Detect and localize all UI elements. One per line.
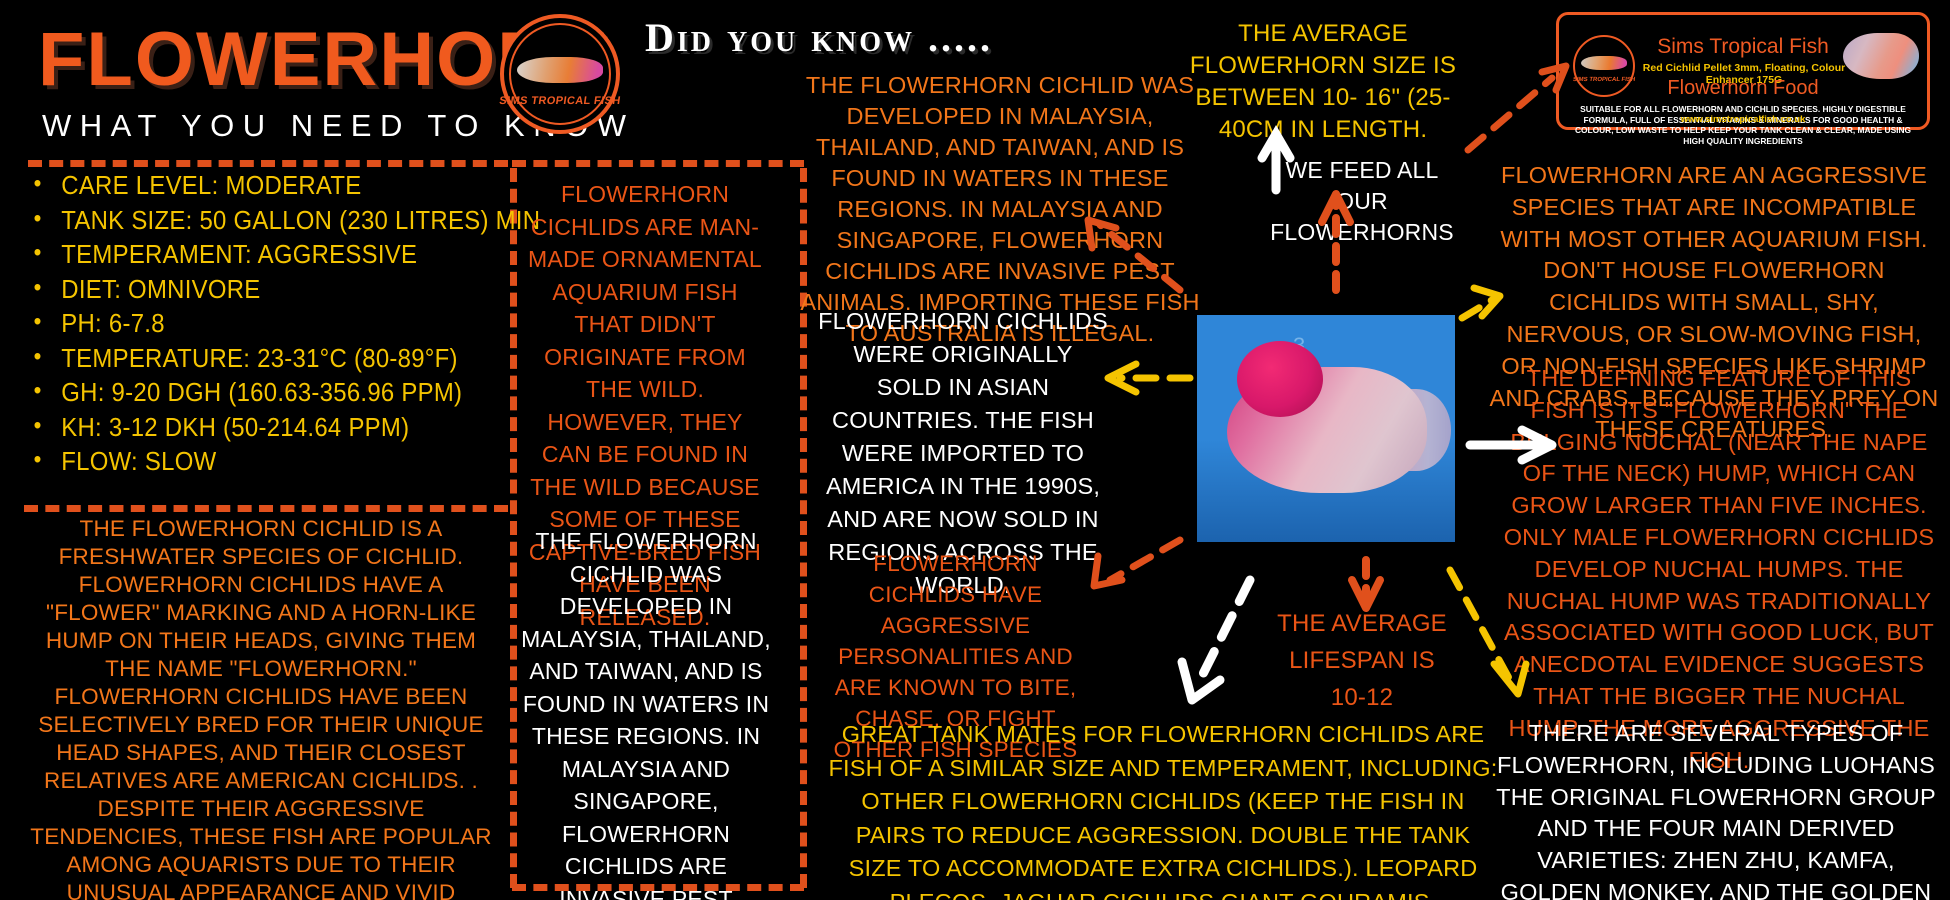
arrow-up-right-orange [1468, 78, 1552, 150]
nuchal-hump-paragraph: THE DEFINING FEATURE OF THIS FISH IS ITS… [1498, 363, 1940, 776]
flowerhorn-fish-icon [1581, 56, 1627, 70]
infographic-canvas: FLOWERHORN WHAT YOU NEED TO KNOW SIMS TR… [0, 0, 1950, 900]
lifespan-note: THE AVERAGE LIFESPAN IS 10-12 [1272, 605, 1452, 716]
arrow-down-left-white [1200, 580, 1250, 680]
ad-website-url[interactable]: www.simstropicalfish.co.uk [1559, 114, 1927, 125]
spec-item-care-level: CARE LEVEL: MODERATE [30, 168, 472, 203]
we-feed-note: WE FEED ALL OUR FLOWERHORNS [1262, 155, 1462, 248]
spec-item-flow: FLOW: SLOW [30, 444, 472, 479]
divider-mid-left [24, 505, 508, 512]
flowerhorn-fish-icon [517, 57, 603, 83]
spec-item-ph: PH: 6-7.8 [30, 306, 472, 341]
product-ad-box[interactable]: SIMS TROPICAL FISH Sims Tropical Fish Re… [1556, 12, 1930, 130]
ad-fish-photo [1843, 33, 1919, 79]
ad-logo-label: SIMS TROPICAL FISH [1572, 77, 1635, 83]
divider-top-left [28, 160, 508, 167]
ad-description: SUITABLE FOR ALL FLOWERHORN AND CICHLID … [1567, 104, 1919, 146]
did-you-know-heading: Did you know ..... [645, 14, 993, 61]
arrow-head-down-left-white [1182, 662, 1220, 700]
spec-item-kh: KH: 3-12 DKH (50-214.64 PPM) [30, 410, 472, 445]
flowerhorn-types-paragraph: THERE ARE SEVERAL TYPES OF FLOWERHORN, I… [1490, 718, 1942, 900]
flowerhorn-photo: 3 [1197, 315, 1455, 542]
tankmates-paragraph: GREAT TANK MATES FOR FLOWERHORN CICHLIDS… [828, 718, 1498, 900]
fish-nuchal-hump-shape [1237, 341, 1323, 417]
spec-item-tank-size: TANK SIZE: 50 GALLON (230 LITRES) MIN [30, 203, 472, 238]
spec-item-temperature: TEMPERATURE: 23-31°C (80-89°F) [30, 341, 472, 376]
care-specs-list: CARE LEVEL: MODERATE TANK SIZE: 50 GALLO… [30, 168, 510, 479]
ad-logo-badge: SIMS TROPICAL FISH [1573, 35, 1635, 97]
average-size-note: THE AVERAGE FLOWERHORN SIZE IS BETWEEN 1… [1168, 18, 1478, 146]
spec-item-temperament: TEMPERAMENT: AGGRESSIVE [30, 237, 472, 272]
ad-product-name: Flowerhorn Food [1643, 77, 1843, 100]
spec-item-diet: DIET: OMNIVORE [30, 272, 472, 307]
development-paragraph: THE FLOWERHORN CICHLID WAS DEVELOPED IN … [515, 525, 777, 900]
brand-logo-label: SIMS TROPICAL FISH [499, 95, 622, 107]
spec-item-gh: GH: 9-20 DGH (160.63-356.96 PPM) [30, 375, 472, 410]
brand-logo-badge: SIMS TROPICAL FISH [500, 14, 620, 134]
arrow-head-down-mid-orange [1352, 580, 1380, 608]
intro-paragraph: THE FLOWERHORN CICHLID IS A FRESHWATER S… [26, 515, 496, 900]
ad-brand-name: Sims Tropical Fish [1643, 35, 1843, 59]
arrow-down-left-orange [1110, 540, 1180, 580]
arrow-head-left-yellow [1108, 364, 1136, 392]
divider-top-middle [512, 160, 804, 167]
